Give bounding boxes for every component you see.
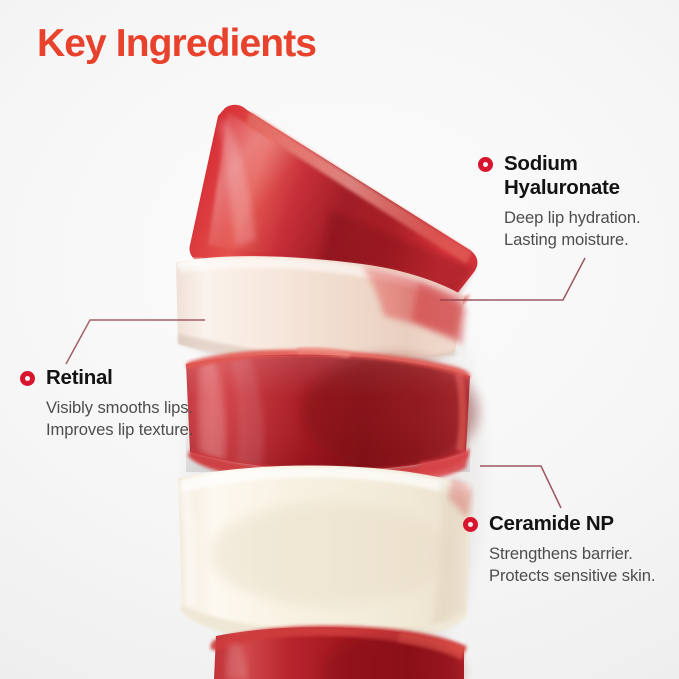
page-title: Key Ingredients: [37, 22, 316, 66]
callout-body: Deep lip hydration. Lasting moisture.: [504, 207, 679, 251]
callout-body: Visibly smooths lips. Improves lip textu…: [46, 397, 193, 441]
leader-line-ceramide: [480, 466, 561, 508]
ring-bullet-icon: [20, 371, 35, 386]
callout-title-line2: Hyaluronate: [504, 176, 620, 199]
callout-body-line2: Protects sensitive skin.: [489, 565, 655, 587]
callout-title-line1: Retinal: [46, 366, 113, 389]
infographic-canvas: Key Ingredients Sodium Hyaluronate Deep …: [0, 0, 679, 679]
callout-body-line2: Lasting moisture.: [504, 229, 679, 251]
layer-red-top: [189, 105, 477, 316]
callout-title: Sodium Hyaluronate: [504, 152, 679, 200]
callout-header: Sodium Hyaluronate: [478, 152, 679, 200]
callout-title: Ceramide NP: [489, 512, 614, 536]
callout-ceramide-np: Ceramide NP Strengthens barrier. Protect…: [463, 512, 655, 587]
layer-cream-lower: [178, 466, 472, 649]
leader-line-retinal: [66, 320, 205, 364]
callout-retinal: Retinal Visibly smooths lips. Improves l…: [20, 366, 193, 441]
callout-sodium-hyaluronate: Sodium Hyaluronate Deep lip hydration. L…: [478, 152, 679, 251]
callout-header: Retinal: [20, 366, 193, 390]
callout-body-line2: Improves lip texture.: [46, 419, 193, 441]
layer-red-middle: [186, 347, 478, 486]
callout-title-line1: Sodium: [504, 152, 578, 175]
layer-cream-upper: [176, 256, 466, 366]
callout-body-line1: Deep lip hydration.: [504, 207, 679, 229]
leader-line-sodium: [440, 258, 585, 300]
callout-header: Ceramide NP: [463, 512, 655, 536]
callout-body: Strengthens barrier. Protects sensitive …: [489, 543, 655, 587]
callout-body-line1: Visibly smooths lips.: [46, 397, 193, 419]
ring-bullet-icon: [478, 157, 493, 172]
callout-title: Retinal: [46, 366, 113, 390]
layer-red-base: [211, 626, 467, 679]
callout-body-line1: Strengthens barrier.: [489, 543, 655, 565]
ring-bullet-icon: [463, 517, 478, 532]
callout-title-line1: Ceramide NP: [489, 512, 614, 535]
